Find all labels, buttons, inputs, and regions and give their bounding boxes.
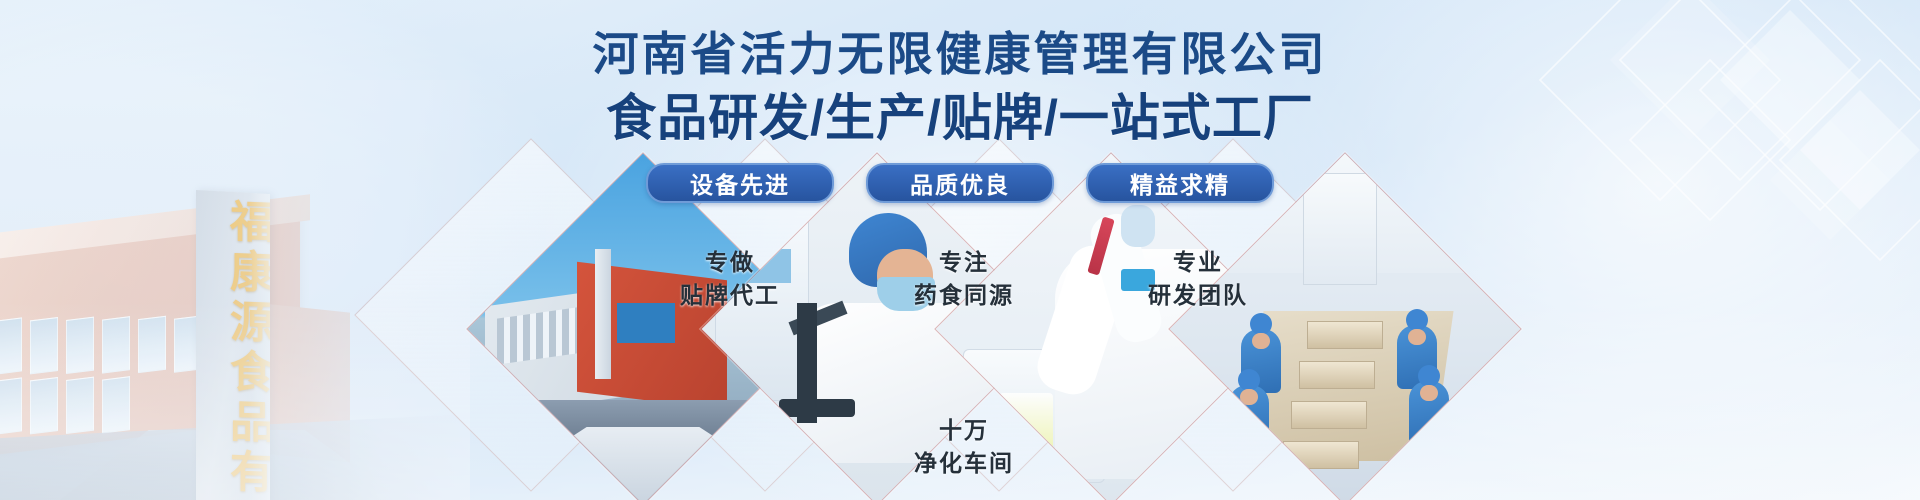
tile-label-homology-line1: 专注 xyxy=(884,246,1044,279)
tile-label-cleanroom-line2: 净化车间 xyxy=(884,447,1044,480)
tile-label-oem: 专做 贴牌代工 xyxy=(650,246,810,313)
tile-label-oem-line2: 贴牌代工 xyxy=(650,279,810,312)
headline-block: 河南省活力无限健康管理有限公司 食品研发/生产/贴牌/一站式工厂 设备先进 品质… xyxy=(0,26,1920,203)
company-title: 河南省活力无限健康管理有限公司 xyxy=(0,26,1920,84)
tile-label-oem-line1: 专做 xyxy=(650,246,810,279)
promo-banner: 福康源食品有限公司 河南省活力无限健康管理有限公司 食品研发/生产/贴牌/一站式… xyxy=(0,0,1920,500)
badge-excellence[interactable]: 精益求精 xyxy=(1086,163,1274,203)
badge-quality[interactable]: 品质优良 xyxy=(866,163,1054,203)
badge-equipment[interactable]: 设备先进 xyxy=(646,163,834,203)
feature-badge-list: 设备先进 品质优良 精益求精 xyxy=(0,163,1920,203)
tile-label-cleanroom-line1: 十万 xyxy=(884,414,1044,447)
tile-label-homology: 专注 药食同源 xyxy=(884,246,1044,313)
tile-label-cleanroom: 十万 净化车间 xyxy=(884,414,1044,481)
tile-label-rnd-team: 专业 研发团队 xyxy=(1118,246,1278,313)
tile-label-rnd-team-line1: 专业 xyxy=(1118,246,1278,279)
tile-label-rnd-team-line2: 研发团队 xyxy=(1118,279,1278,312)
service-tagline: 食品研发/生产/贴牌/一站式工厂 xyxy=(0,88,1920,149)
tile-label-homology-line2: 药食同源 xyxy=(884,279,1044,312)
